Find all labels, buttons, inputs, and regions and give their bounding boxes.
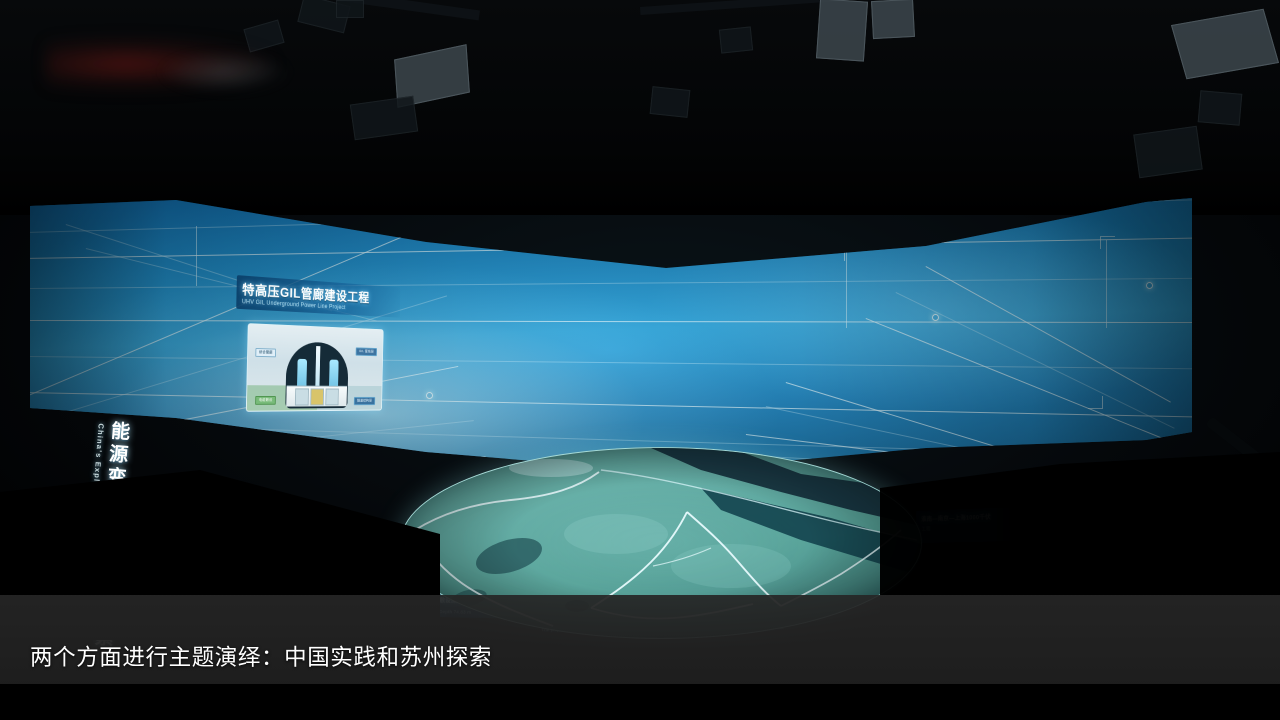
diagram-tag-right: GIL 管线层 — [356, 347, 377, 356]
wall-node-1 — [716, 240, 723, 247]
ceiling-light-2 — [719, 26, 753, 53]
ceiling-light-1 — [650, 86, 691, 118]
ceiling-speaker — [1198, 90, 1243, 126]
diagram-tag-left: 综合管廊 — [255, 348, 276, 357]
diagram-tag-bottom-right: 隧道结构层 — [354, 397, 375, 405]
project-diagram-photo: 综合管廊 GIL 管线层 电缆敷设 隧道结构层 — [246, 323, 384, 412]
led-wall-surface — [26, 196, 1196, 476]
wall-vignette — [26, 196, 1196, 476]
diagram-cell-2 — [310, 388, 324, 405]
ceiling-area — [0, 0, 1280, 215]
ceiling-projector-6 — [1133, 126, 1203, 178]
screenshot-stage: 能源变革——苏州探索 China's Exploration in Energy… — [0, 0, 1280, 720]
bottom-letterbox — [0, 684, 1280, 720]
subtitle-text: 两个方面进行主题演绎：中国实践和苏州探索 — [30, 640, 492, 672]
ceiling-projector-3 — [816, 0, 868, 62]
ceiling-projector-4 — [871, 0, 915, 39]
ceiling-mount-3 — [336, 0, 364, 18]
diagram-tag-bottom-left: 电缆敷设 — [255, 396, 276, 405]
watermark-blur-secondary — [160, 52, 290, 92]
diagram-cell-3 — [325, 389, 339, 406]
curved-led-wall: 能源变革——苏州探索 China's Exploration in Energy… — [26, 196, 1196, 476]
project-card: 特高压GIL管廊建设工程 UHV GIL Underground Power L… — [220, 274, 402, 434]
diagram-floor-cells — [286, 385, 347, 406]
diagram-cell-1 — [295, 388, 309, 405]
